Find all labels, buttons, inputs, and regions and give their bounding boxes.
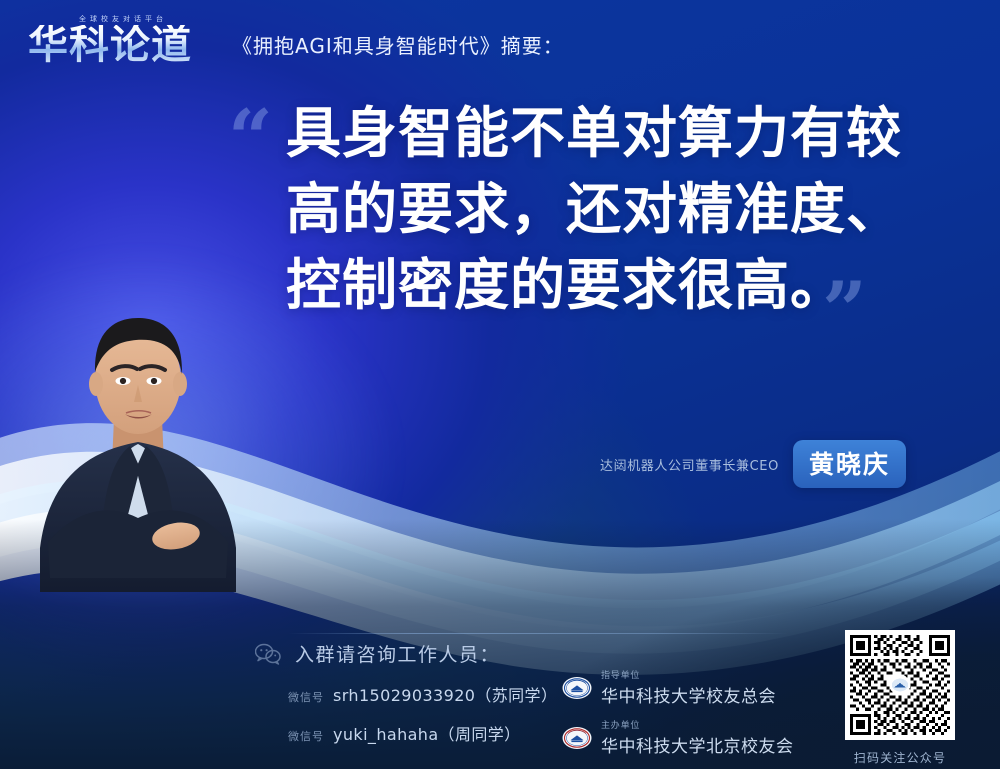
brand-tagline: 全球校友对话平台 <box>28 14 218 24</box>
university-seal-icon <box>562 673 592 703</box>
organization-texts: 主办单位 华中科技大学北京校友会 <box>601 718 794 757</box>
quote-open-mark: “ <box>228 100 273 178</box>
organization-kind: 主办单位 <box>601 718 794 731</box>
page-title: 《拥抱AGI和具身智能时代》摘要： <box>232 30 564 65</box>
quote-line: 高的要求，还对精准度、 <box>286 172 928 248</box>
qr-caption: 扫码关注公众号 <box>838 749 962 766</box>
organizations-section: 指导单位 华中科技大学校友总会 主办单位 华中科技大学北京校友会 <box>562 668 794 768</box>
organization-name: 华中科技大学校友总会 <box>601 682 776 707</box>
footer-divider <box>288 633 788 634</box>
contact-value[interactable]: srh15029033920（苏同学） <box>333 682 557 706</box>
brand-name: 华科论道 <box>28 25 218 65</box>
qr-section: 扫码关注公众号 <box>838 630 962 766</box>
contact-row: 微信号 srh15029033920（苏同学） <box>288 682 557 706</box>
quote-line: 具身智能不单对算力有较 <box>286 96 928 172</box>
organization-name: 华中科技大学北京校友会 <box>601 732 794 757</box>
speaker-name-badge: 黄晓庆 <box>793 440 906 488</box>
poster-canvas: 全球校友对话平台 华科论道 《拥抱AGI和具身智能时代》摘要： “ ” 具身智能… <box>0 0 1000 769</box>
organization-kind: 指导单位 <box>601 668 776 681</box>
wechat-icon <box>255 643 281 665</box>
quote-block: “ ” 具身智能不单对算力有较 高的要求，还对精准度、 控制密度的要求很高。 <box>228 96 928 324</box>
speaker-title: 达闼机器人公司董事长兼CEO <box>600 455 779 474</box>
organization-row: 主办单位 华中科技大学北京校友会 <box>562 718 794 757</box>
quote-close-mark: ” <box>822 272 867 350</box>
contact-heading-row: 入群请咨询工作人员： <box>255 640 557 667</box>
contact-value[interactable]: yuki_hahaha（周同学） <box>333 721 521 745</box>
contact-label: 微信号 <box>288 689 324 705</box>
university-seal-icon <box>562 723 592 753</box>
organization-texts: 指导单位 华中科技大学校友总会 <box>601 668 776 707</box>
qr-code[interactable] <box>845 630 955 740</box>
contact-heading: 入群请咨询工作人员： <box>295 640 500 667</box>
organization-row: 指导单位 华中科技大学校友总会 <box>562 668 794 707</box>
contact-label: 微信号 <box>288 728 324 744</box>
brand-logo: 全球校友对话平台 华科论道 <box>28 14 218 65</box>
speaker-portrait <box>18 292 258 592</box>
poster-header: 全球校友对话平台 华科论道 《拥抱AGI和具身智能时代》摘要： <box>28 14 564 65</box>
contact-section: 入群请咨询工作人员： 微信号 srh15029033920（苏同学） 微信号 y… <box>255 640 557 745</box>
speaker-attribution: 达闼机器人公司董事长兼CEO 黄晓庆 <box>600 440 906 488</box>
contact-row: 微信号 yuki_hahaha（周同学） <box>288 721 557 745</box>
